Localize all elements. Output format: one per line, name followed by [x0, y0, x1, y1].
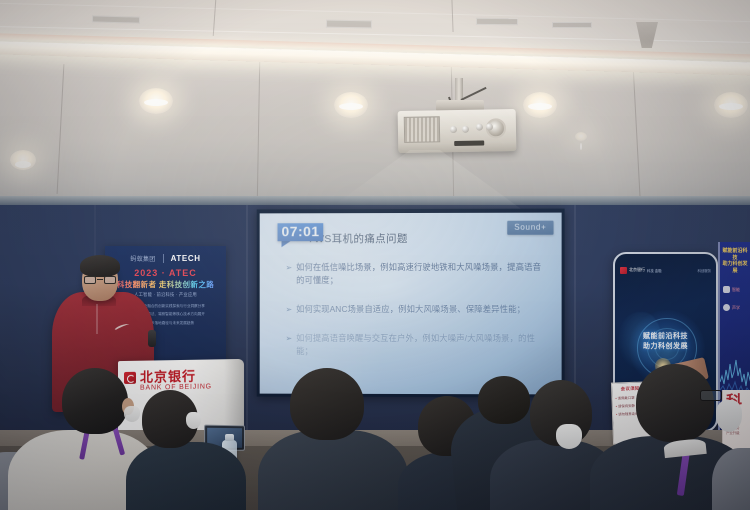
ceiling-vent [92, 15, 140, 23]
ceiling-downlight [714, 92, 748, 118]
nike-swoosh-icon [114, 324, 130, 330]
ceiling [0, 0, 750, 210]
ceiling-vent [326, 20, 372, 29]
presenter-glasses [84, 276, 116, 284]
ceiling-downlight [334, 92, 368, 118]
right-banner-title: 赋能前沿科技 助力科创发展 [722, 248, 748, 274]
conference-room-photo: 蚂蚁集团 ATECH 2023 · ATEC 科技翻新者 走科技创新之路 人工智… [0, 0, 750, 510]
wave-icon [723, 304, 730, 311]
bullet-marker-icon: ➢ [285, 332, 292, 345]
bullet-marker-icon: ➢ [285, 261, 292, 274]
audience-head [636, 364, 714, 442]
face-mask [186, 412, 201, 429]
slide-title: TWS耳机的痛点问题 [307, 231, 521, 246]
ceiling-projector [398, 109, 517, 153]
face-mask [556, 424, 582, 449]
slide-bullet: ➢ 如何提高语音唤醒与交互在户外，例如大噪声/大风噪场景，的性能； [285, 332, 545, 358]
poster-brand-name: 北京银行 [629, 267, 645, 273]
sound-plus-logo: Sound+ [507, 221, 553, 235]
ceiling-downlight [575, 132, 587, 141]
slide-bullet-text: 如何提高语音唤醒与交互在户外，例如大噪声/大风噪场景，的性能； [296, 332, 545, 358]
logo-divider [163, 254, 164, 263]
presenter-zipper [96, 304, 98, 334]
audience-head [290, 368, 364, 440]
chip-icon [723, 286, 730, 293]
notice-item-text: 请保持安静 [618, 403, 635, 408]
audience-head [62, 368, 128, 434]
right-banner-row: 智能 [723, 286, 740, 293]
microphone [148, 330, 156, 347]
slide-bullet-text: 如何在低信噪比场景，例如高速行驶地铁和大风噪场景，提高语音的可懂度； [296, 261, 545, 287]
poster-topbar: 北京银行 科技 金融 科创服务 [620, 266, 711, 274]
ceiling-downlight [10, 150, 36, 170]
projection-screen: TWS耳机的痛点问题 07:01 Sound+ ➢ 如何在低信噪比场景，例如高速… [257, 209, 565, 398]
poster-corner-note: 科创服务 [697, 268, 711, 273]
audience-member [126, 442, 246, 510]
ceiling-vent [476, 18, 518, 25]
slide-bullet-list: ➢ 如何在低信噪比场景，例如高速行驶地铁和大风噪场景，提高语音的可懂度； ➢ 如… [285, 261, 545, 374]
poster-headline-line2: 助力科创发展 [623, 342, 708, 352]
atech-logo: ATECH [171, 254, 201, 263]
notice-item-text: 请佩戴口罩 [618, 395, 635, 400]
ceiling-downlight [139, 88, 173, 114]
bank-logo-row: 北京银行 [124, 370, 196, 384]
slide-surface: TWS耳机的痛点问题 07:01 Sound+ ➢ 如何在低信噪比场景，例如高速… [260, 213, 562, 395]
audience-head [478, 376, 530, 424]
face-mask [124, 406, 140, 422]
bullet-marker-icon: ➢ [285, 303, 292, 316]
right-banner-row-label: 声学 [732, 305, 740, 311]
face-mask [716, 400, 742, 432]
presenter-hair [80, 255, 120, 277]
poster-brand-sub: 科技 金融 [647, 268, 662, 273]
slide-bullet: ➢ 如何实现ANC场景自适应，例如大风噪场景、保障差异性能； [285, 303, 545, 316]
banner-year-line: 2023 · ATEC [105, 268, 226, 278]
right-banner-row-label: 智能 [732, 287, 740, 293]
poster-brand: 北京银行 科技 金融 [620, 267, 662, 274]
audience-member [258, 430, 408, 510]
timer-badge-tail [282, 241, 291, 247]
slide-bullet-text: 如何实现ANC场景自适应，例如大风噪场景、保障差异性能； [296, 303, 525, 316]
bank-logo-icon [620, 267, 627, 274]
right-banner-row: 声学 [723, 304, 740, 311]
poster-line: 产业升级 [726, 431, 747, 436]
poster-headline-line1: 赋能前沿科技 [623, 332, 708, 342]
poster-headline: 赋能前沿科技 助力科创发展 [623, 332, 708, 352]
presentation-timer: 07:01 [278, 223, 324, 241]
audience-glasses [700, 390, 722, 401]
slide-bullet: ➢ 如何在低信噪比场景，例如高速行驶地铁和大风噪场景，提高语音的可懂度； [285, 261, 545, 287]
wall-trim [0, 196, 750, 205]
ceiling-vent [552, 22, 592, 28]
banner-headline: 科技翻新者 走科技创新之路 [110, 279, 221, 290]
ceiling-downlight [523, 92, 557, 118]
bank-logo-icon [124, 371, 136, 383]
bank-name-cn: 北京银行 [140, 370, 196, 384]
ceiling-duct [636, 22, 658, 48]
atec-partner-logo: 蚂蚁集团 [130, 254, 155, 263]
